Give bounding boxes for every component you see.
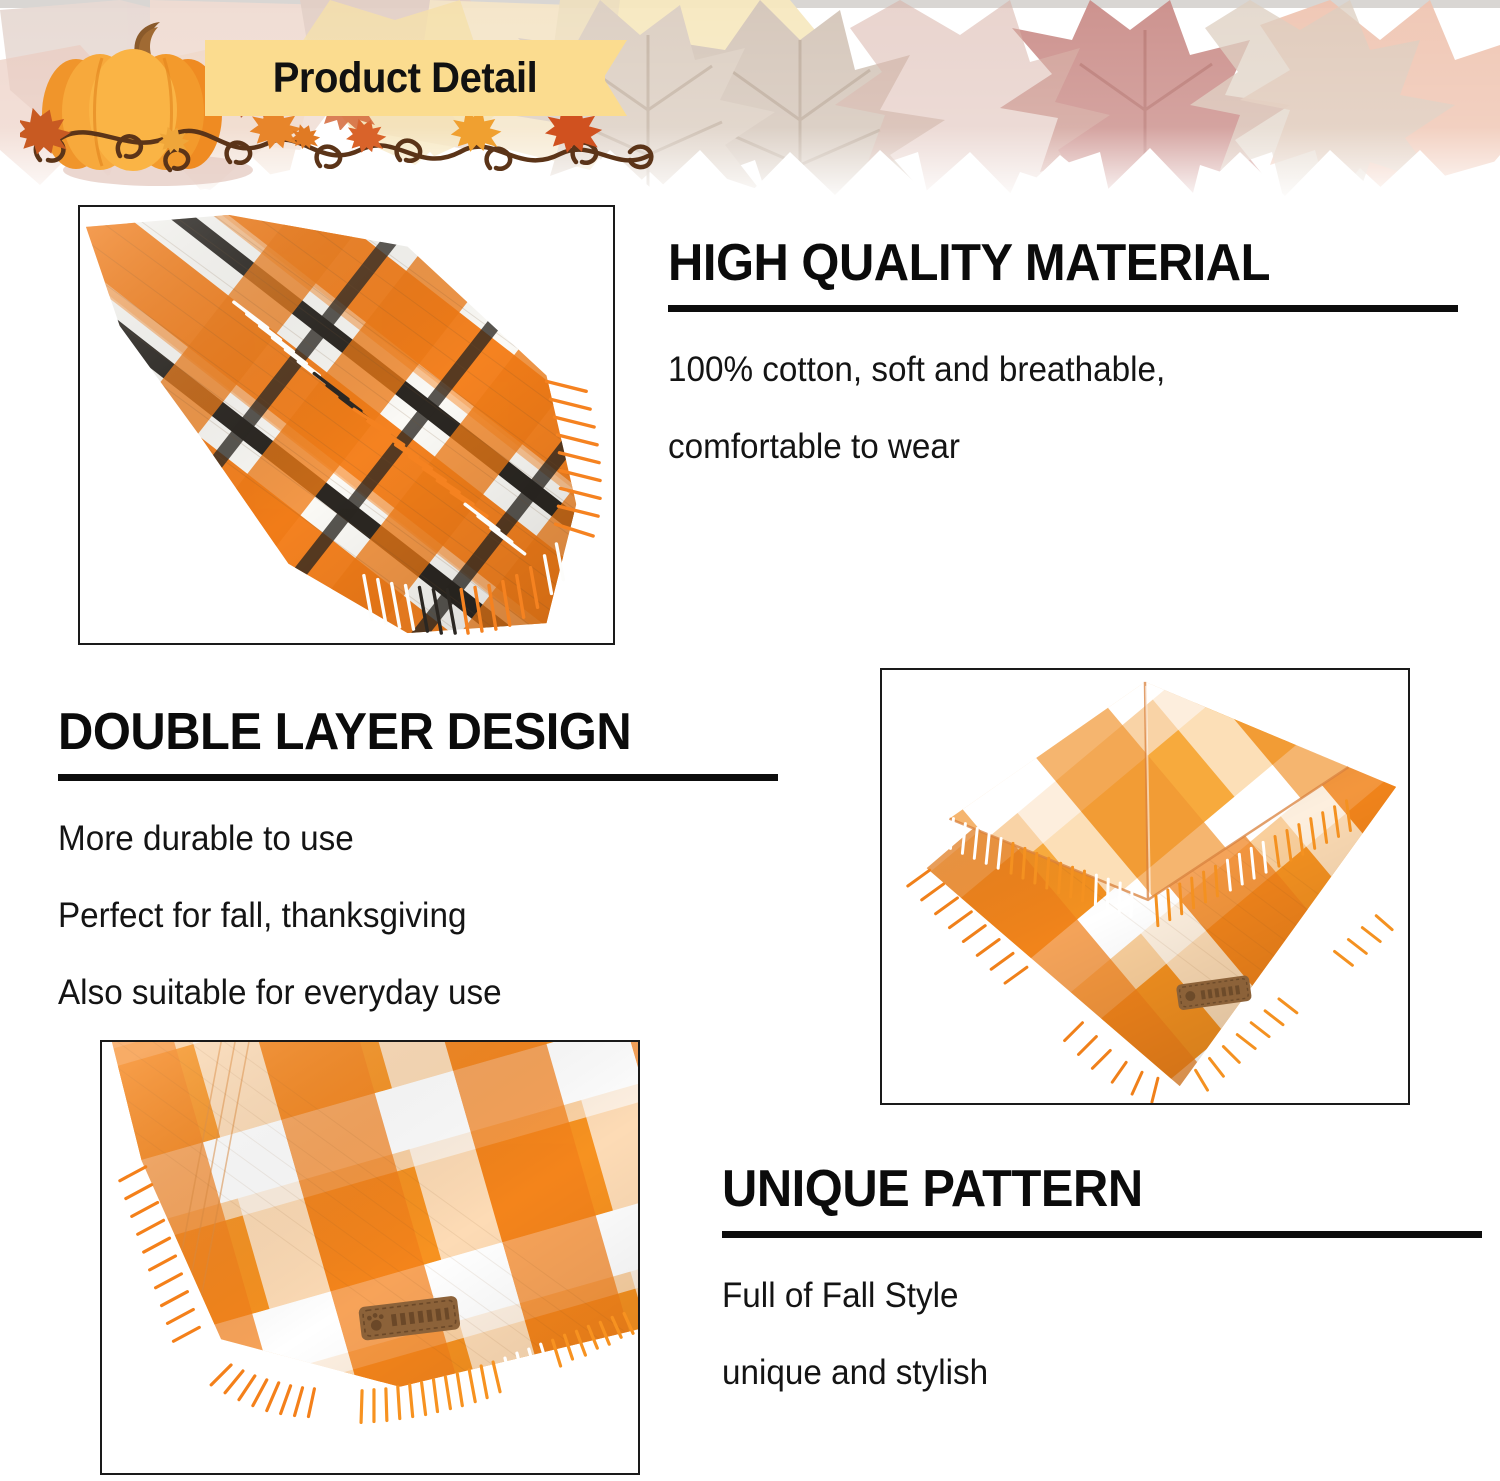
- feature-line: Perfect for fall, thanksgiving: [58, 898, 742, 933]
- feature-line: unique and stylish: [722, 1355, 1444, 1390]
- heading-rule: [58, 774, 778, 781]
- feature-body-material: 100% cotton, soft and breathable, comfor…: [668, 352, 1458, 464]
- page-title: Product Detail: [219, 40, 591, 116]
- folded-triangle-image: [882, 670, 1408, 1103]
- heading-rule: [722, 1231, 1482, 1238]
- product-detail-page: Product Detail: [0, 0, 1500, 1481]
- feature-body-unique-pattern: Full of Fall Style unique and stylish: [722, 1278, 1482, 1390]
- feature-block-double-layer: DOUBLE LAYER DESIGN More durable to use …: [58, 705, 778, 1010]
- feature-block-unique-pattern: UNIQUE PATTERN Full of Fall Style unique…: [722, 1162, 1482, 1390]
- feature-heading-double-layer: DOUBLE LAYER DESIGN: [58, 705, 735, 760]
- feature-line: Full of Fall Style: [722, 1278, 1444, 1313]
- feature-block-material: HIGH QUALITY MATERIAL 100% cotton, soft …: [668, 236, 1458, 464]
- feature-line: Also suitable for everyday use: [58, 975, 742, 1010]
- fringe-closeup-image: [80, 207, 613, 643]
- flat-corner-image: [102, 1042, 638, 1473]
- product-photo-folded-triangle[interactable]: [880, 668, 1410, 1105]
- feature-line: More durable to use: [58, 821, 742, 856]
- feature-heading-unique-pattern: UNIQUE PATTERN: [722, 1162, 1436, 1217]
- header-banner: Product Detail: [0, 0, 1500, 205]
- feature-body-double-layer: More durable to use Perfect for fall, th…: [58, 821, 778, 1010]
- product-photo-flat-corner[interactable]: [100, 1040, 640, 1475]
- feature-heading-material: HIGH QUALITY MATERIAL: [668, 236, 1411, 291]
- heading-rule: [668, 305, 1458, 312]
- product-photo-fringe-closeup[interactable]: [78, 205, 615, 645]
- feature-line: comfortable to wear: [668, 429, 1419, 464]
- feature-line: 100% cotton, soft and breathable,: [668, 352, 1419, 387]
